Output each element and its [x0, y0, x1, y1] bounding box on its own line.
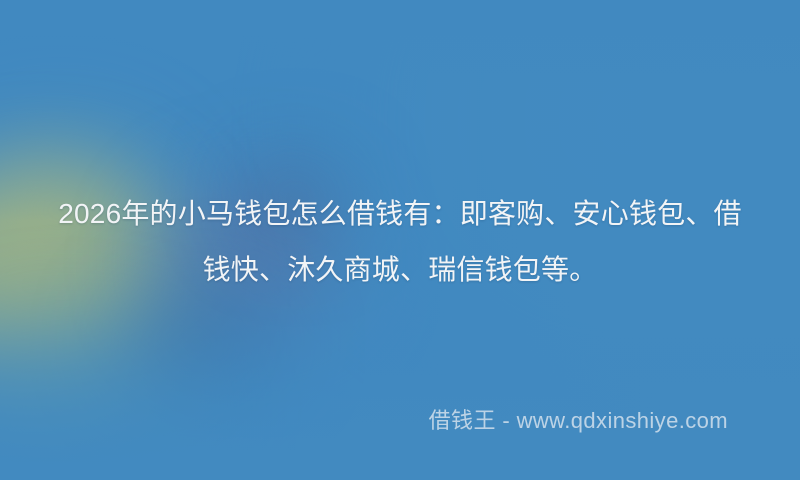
- banner-image: 2026年的小马钱包怎么借钱有：即客购、安心钱包、借钱快、沐久商城、瑞信钱包等。…: [0, 0, 800, 480]
- watermark-text: 借钱王 - www.qdxinshiye.com: [429, 406, 728, 436]
- headline-text: 2026年的小马钱包怎么借钱有：即客购、安心钱包、借钱快、沐久商城、瑞信钱包等。: [50, 186, 750, 298]
- background-blob-teal: [0, 310, 220, 480]
- background-blob-navy: [110, 285, 285, 400]
